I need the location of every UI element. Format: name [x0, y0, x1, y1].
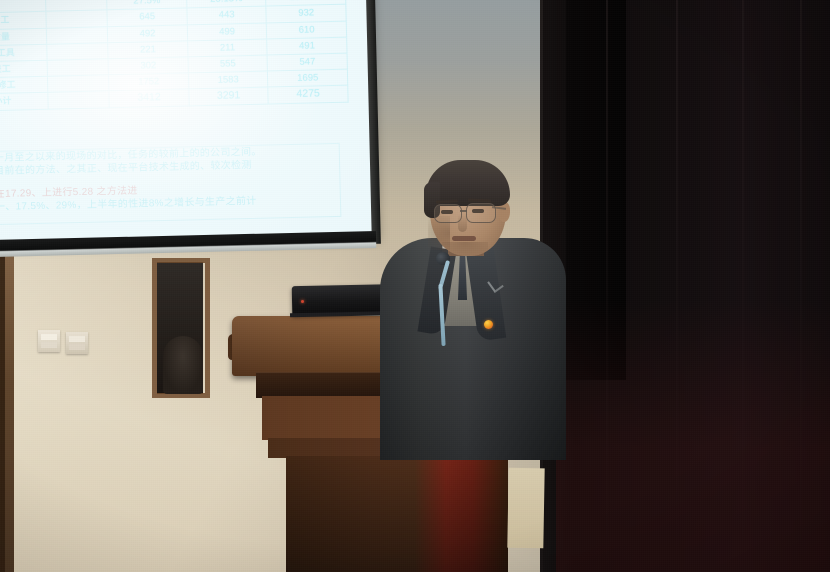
slide-note-box: 一月至之以来的现场的对比，任务的较前上的的公司之间。目前在的方法、之其正、现在平… [0, 143, 341, 225]
table-cell-c2: 211 [188, 39, 268, 57]
curtain-fold [676, 0, 678, 572]
table-cell-c3: 547 [267, 53, 347, 71]
table-cell-c3: 932 [266, 5, 346, 23]
table-cell-c1: 3412 [109, 89, 189, 107]
nose [458, 214, 467, 232]
table-cell-c2: 499 [187, 23, 267, 41]
table-cell-blank [46, 26, 108, 44]
table-cell-c1: 492 [108, 24, 188, 42]
curtain-warm-glow [556, 300, 830, 572]
light-switch-panel-2[interactable] [66, 332, 88, 354]
table-cell-label: 小计 [0, 93, 48, 111]
table-cell-blank [47, 59, 109, 77]
table-cell-c3: 610 [267, 21, 347, 39]
paper-on-lectern [507, 468, 544, 549]
laptop-power-led-icon [301, 300, 304, 303]
presentation-photo-scene: 合计40563841547827.5%25.18%29.57%士工6454439… [0, 0, 830, 572]
light-switch-panel-1[interactable] [38, 330, 60, 352]
table-cell-c2: 443 [187, 6, 267, 24]
table-cell-c2: 555 [188, 55, 268, 73]
switch-rocker-1[interactable] [41, 334, 57, 340]
curtain-fold [606, 0, 608, 572]
table-cell-c1: 1752 [109, 73, 189, 91]
mouth [452, 236, 476, 241]
lectern-column-shadow [286, 456, 508, 572]
curtain-fold [742, 0, 744, 572]
table-cell-c2: 3291 [189, 87, 269, 105]
projection-screen: 合计40563841547827.5%25.18%29.57%士工6454439… [0, 0, 379, 247]
table-cell-c1: 645 [107, 8, 187, 26]
presenter-person [372, 160, 572, 460]
wall-left-edge [0, 250, 5, 572]
dark-object-in-doorway [163, 336, 203, 394]
table-cell-blank [47, 75, 109, 93]
switch-rocker-4[interactable] [69, 344, 85, 350]
switch-rocker-3[interactable] [69, 336, 85, 342]
glasses-bridge [460, 210, 467, 212]
curtain-fold [800, 0, 802, 572]
table-cell-c2: 1583 [188, 71, 268, 89]
switch-rocker-2[interactable] [41, 342, 57, 348]
table-cell-c1: 302 [108, 57, 188, 75]
table-cell-c3: 491 [267, 37, 347, 55]
table-cell-blank [46, 43, 108, 61]
table-cell-c3: 4275 [268, 85, 348, 103]
chin-shadow [442, 242, 488, 256]
slide-content: 合计40563841547827.5%25.18%29.57%士工6454439… [0, 0, 379, 247]
slide-data-table: 合计40563841547827.5%25.18%29.57%士工6454439… [0, 0, 349, 111]
table-cell-c3: 1695 [268, 69, 348, 87]
lapel-pin-badge [484, 320, 493, 329]
table-cell-blank [48, 91, 110, 109]
table-cell-c1: 221 [108, 41, 188, 59]
table-cell-blank [46, 10, 108, 28]
